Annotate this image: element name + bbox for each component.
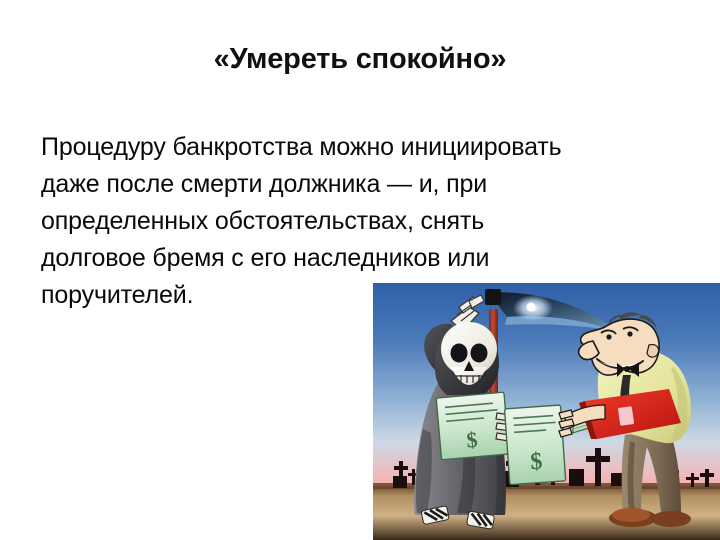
handed-over-bill: $ [505, 405, 566, 485]
skull-eye-right [471, 344, 488, 363]
body-text-line: долговое бремя с его наследников или [41, 240, 701, 277]
folder-label [618, 406, 634, 426]
body-text-line: Процедуру банкротства можно инициировать [41, 129, 701, 166]
bill-dollar-sign: $ [465, 427, 478, 453]
body-text-line: определенных обстоятельствах, снять [41, 203, 701, 240]
page-title: «Умереть спокойно» [0, 44, 720, 76]
skull-eye-left [451, 344, 468, 363]
businessman-shoe-right [651, 511, 691, 527]
businessman-ear [647, 345, 659, 358]
presentation-slide: «Умереть спокойно» Процедуру банкротства… [0, 0, 720, 540]
grim-reaper-and-businessman-cartoon-image: $ [373, 283, 720, 540]
handed-bill-dollar-sign: $ [529, 448, 543, 475]
businessman-fingers [559, 410, 574, 437]
body-text-line: даже после смерти должника — и, при [41, 166, 701, 203]
